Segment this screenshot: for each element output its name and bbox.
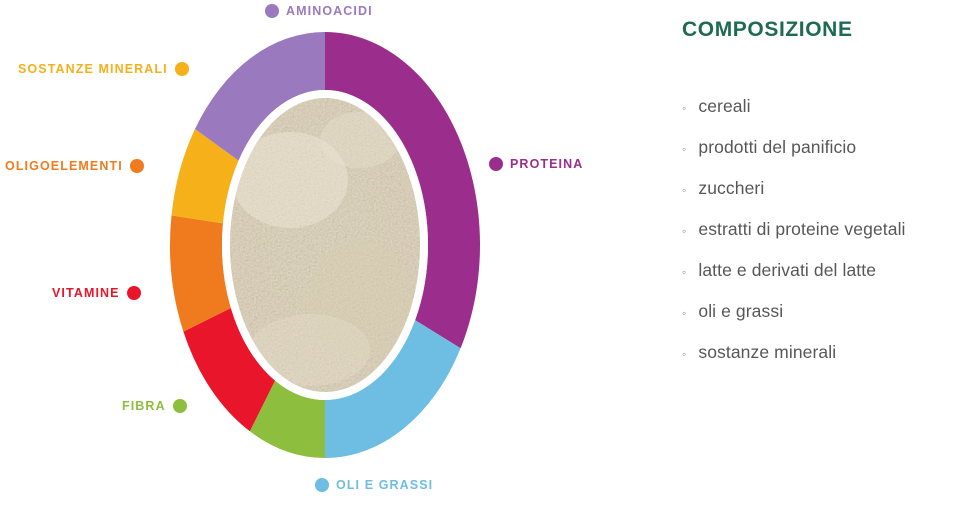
composition-list-item: ◦sostanze minerali (682, 342, 906, 363)
legend-dot-sostanze-minerali (175, 62, 189, 76)
composition-item-label: estratti di proteine vegetali (698, 219, 905, 240)
composition-list-item: ◦estratti di proteine vegetali (682, 219, 906, 240)
legend-label-aminoacidi: AMINOACIDI (286, 4, 373, 18)
composition-list-item: ◦cereali (682, 96, 906, 117)
composition-list: ◦cereali◦prodotti del panificio◦zuccheri… (682, 96, 906, 383)
circle-bullet-icon: ◦ (682, 348, 686, 360)
legend-label-oligoelementi: OLIGOELEMENTI (5, 159, 123, 173)
composition-item-label: sostanze minerali (698, 342, 836, 363)
legend-item-oli-e-grassi[interactable]: OLI E GRASSI (315, 478, 433, 492)
composition-item-label: oli e grassi (698, 301, 783, 322)
composition-list-item: ◦oli e grassi (682, 301, 906, 322)
circle-bullet-icon: ◦ (682, 225, 686, 237)
legend-dot-proteina (489, 157, 503, 171)
circle-bullet-icon: ◦ (682, 184, 686, 196)
legend-dot-oli-e-grassi (315, 478, 329, 492)
composition-list-item: ◦prodotti del panificio (682, 137, 906, 158)
legend-label-proteina: PROTEINA (510, 157, 583, 171)
legend-dot-vitamine (127, 286, 141, 300)
legend-label-oli-e-grassi: OLI E GRASSI (336, 478, 433, 492)
legend-dot-oligoelementi (130, 159, 144, 173)
legend-label-sostanze-minerali: SOSTANZE MINERALI (18, 62, 168, 76)
circle-bullet-icon: ◦ (682, 143, 686, 155)
composition-title: COMPOSIZIONE (682, 18, 853, 42)
legend-item-fibra[interactable]: FIBRA (122, 399, 187, 413)
legend-label-vitamine: VITAMINE (52, 286, 120, 300)
composition-item-label: zuccheri (698, 178, 764, 199)
legend-item-sostanze-minerali[interactable]: SOSTANZE MINERALI (18, 62, 189, 76)
legend-label-fibra: FIBRA (122, 399, 166, 413)
composition-list-item: ◦latte e derivati del latte (682, 260, 906, 281)
composition-panel: COMPOSIZIONE ◦cereali◦prodotti del panif… (672, 0, 973, 506)
composition-item-label: latte e derivati del latte (698, 260, 876, 281)
legend-dot-aminoacidi (265, 4, 279, 18)
legend-item-vitamine[interactable]: VITAMINE (52, 286, 141, 300)
circle-bullet-icon: ◦ (682, 307, 686, 319)
circle-bullet-icon: ◦ (682, 266, 686, 278)
composition-list-item: ◦zuccheri (682, 178, 906, 199)
legend-item-proteina[interactable]: PROTEINA (489, 157, 583, 171)
circle-bullet-icon: ◦ (682, 102, 686, 114)
legend-dot-fibra (173, 399, 187, 413)
donut-chart-panel: AMINOACIDI SOSTANZE MINERALI OLIGOELEMEN… (0, 0, 650, 506)
legend-item-aminoacidi[interactable]: AMINOACIDI (265, 4, 373, 18)
composition-item-label: cereali (698, 96, 750, 117)
infographic-root: AMINOACIDI SOSTANZE MINERALI OLIGOELEMEN… (0, 0, 973, 506)
composition-item-label: prodotti del panificio (698, 137, 856, 158)
legend-item-oligoelementi[interactable]: OLIGOELEMENTI (5, 159, 144, 173)
